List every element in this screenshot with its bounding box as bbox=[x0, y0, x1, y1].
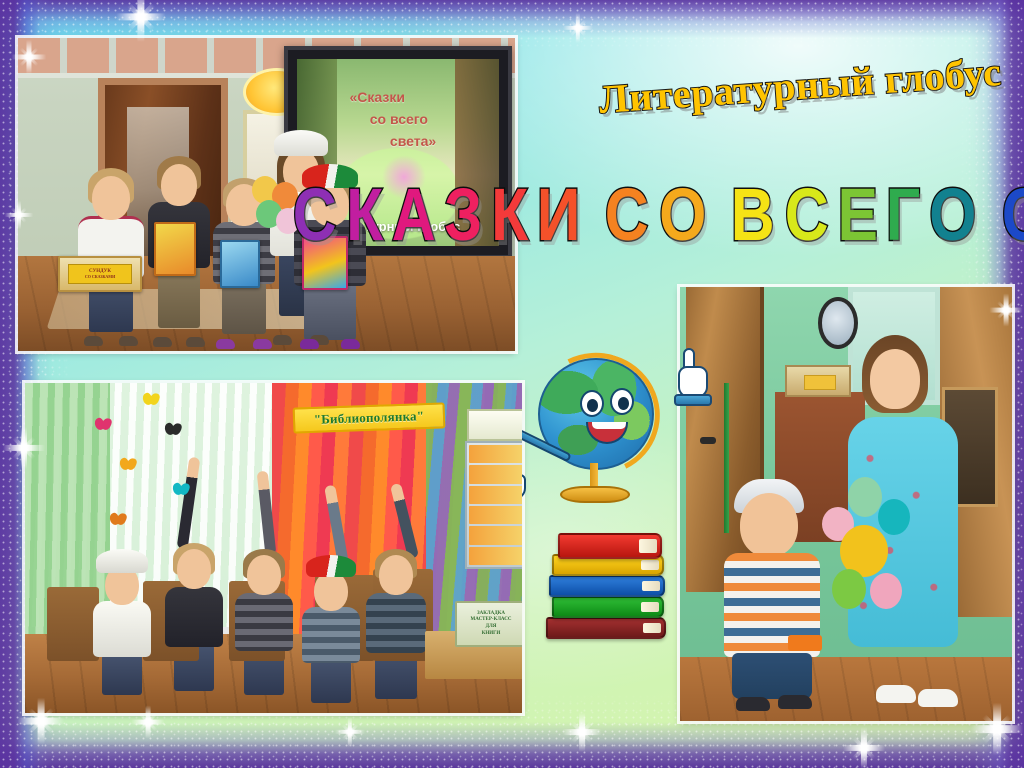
book-red-top bbox=[558, 533, 662, 559]
book-blue bbox=[549, 575, 665, 597]
masterclass-line3: ДЛЯ bbox=[470, 624, 511, 631]
box-label-line2: СО СКАЗКАМИ bbox=[85, 274, 115, 279]
title-letter: С bbox=[293, 181, 337, 249]
title-letter: З bbox=[445, 181, 483, 249]
teacher-shoe-right bbox=[918, 689, 958, 707]
bibliopolyanka-sign: "Библиополянка" bbox=[293, 402, 446, 433]
oval-wall-picture bbox=[818, 297, 858, 349]
masterclass-card: ЗАКЛАДКА МАСТЕР-КЛАСС ДЛЯ КНИГИ bbox=[455, 601, 522, 647]
slide-title-line1: «Сказки bbox=[350, 89, 405, 105]
orange-paper-strip bbox=[788, 635, 822, 651]
wall-flyer bbox=[467, 409, 522, 441]
poster-main-title-letters: СКАЗКИСОВСЕГОСВЕТА bbox=[288, 181, 1024, 249]
child-raising-hand-2 bbox=[231, 549, 297, 699]
door-handle bbox=[700, 437, 716, 444]
title-letter: И bbox=[537, 181, 581, 249]
title-letter: С bbox=[1002, 181, 1024, 249]
chair bbox=[47, 587, 99, 661]
title-letter: Г bbox=[886, 181, 920, 249]
globe-eye-left bbox=[580, 390, 604, 417]
bibliopolyanka-sign-text: "Библиополянка" bbox=[314, 408, 425, 428]
storage-box-label bbox=[804, 375, 836, 390]
boy-sandal-left bbox=[736, 697, 770, 711]
child-seated-white-hat bbox=[89, 549, 155, 699]
title-letter: Е bbox=[837, 181, 877, 249]
title-letter: В bbox=[731, 181, 775, 249]
pointing-hand-glove bbox=[672, 348, 714, 406]
slide-title-line3: света» bbox=[390, 133, 436, 149]
title-letter: О bbox=[929, 181, 976, 249]
hand-cuff bbox=[674, 394, 712, 406]
title-letter: С bbox=[784, 181, 828, 249]
boy-head bbox=[740, 493, 798, 557]
child-2-boy-dark-shirt bbox=[144, 156, 214, 344]
book-green bbox=[552, 596, 664, 618]
boy-sandal-right bbox=[778, 695, 812, 709]
poster-main-title: СКАЗКИСОВСЕГОСВЕТА bbox=[520, 162, 1020, 268]
globe-eye-right bbox=[610, 388, 634, 415]
title-letter: О bbox=[659, 181, 706, 249]
boy-shorts bbox=[732, 653, 812, 699]
child-raising-hand-1 bbox=[161, 543, 227, 699]
boy-with-backwards-cap bbox=[714, 457, 834, 707]
title-letter: К bbox=[491, 181, 528, 249]
teacher-head bbox=[870, 349, 920, 409]
title-letter: А bbox=[392, 181, 436, 249]
globe-base bbox=[560, 486, 630, 503]
masterclass-line4: КНИГИ bbox=[470, 631, 511, 638]
teacher-shoe-left bbox=[876, 685, 916, 703]
stack-of-books bbox=[546, 533, 678, 658]
paper-flower bbox=[822, 477, 914, 617]
masterclass-line2: МАСТЕР-КЛАСС bbox=[470, 617, 511, 624]
magazine-rack bbox=[465, 441, 522, 569]
photo-rainbow-curtain-room: "Библиополянка" ЗАКЛАДКА МАСТЕР-КЛАСС ДЛ… bbox=[25, 383, 522, 713]
title-letter: С bbox=[605, 181, 649, 249]
photo-boy-and-teacher bbox=[680, 287, 1012, 721]
masterclass-line1: ЗАКЛАДКА bbox=[470, 611, 511, 618]
poster-canvas: «Сказки со всего света» Литературный гло… bbox=[0, 0, 1024, 768]
title-letter: К bbox=[346, 181, 383, 249]
child-1-boy-white-shirt: СУНДУК СО СКАЗКАМИ bbox=[74, 168, 148, 343]
slide-title-line2: со всего bbox=[370, 111, 428, 127]
book-bottom-darkred bbox=[546, 617, 666, 639]
